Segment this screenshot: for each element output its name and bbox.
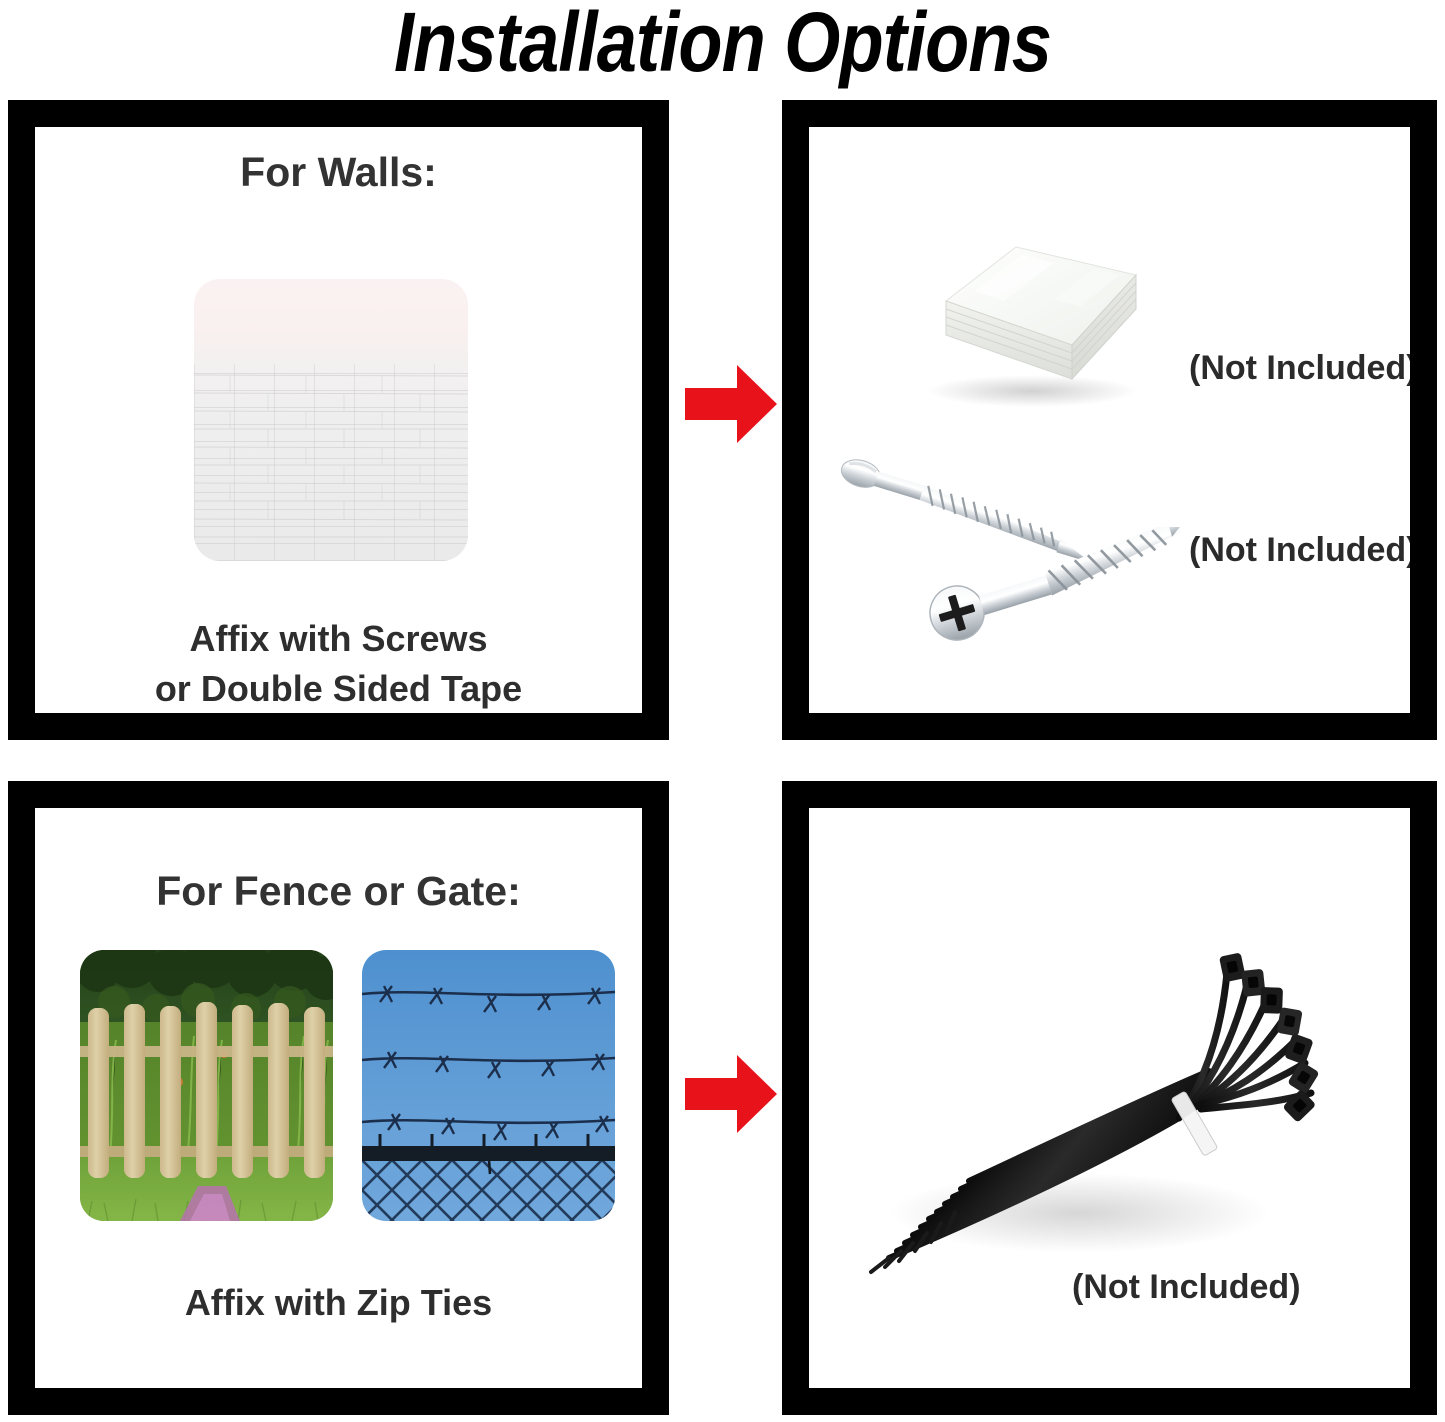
panel-wall-hardware-content: (Not Included) (809, 127, 1410, 713)
for-walls-caption-line-1: Affix with Screws (35, 614, 642, 664)
wooden-picket-fence-image (80, 950, 333, 1221)
arrow-right-icon-bottom (685, 1053, 777, 1135)
for-walls-caption-line-2: or Double Sided Tape (35, 664, 642, 713)
black-zip-ties-bundle-image (849, 913, 1329, 1313)
panel-for-walls: For Walls: (8, 100, 669, 740)
panel-fence-hardware-content: (Not Included) (809, 808, 1410, 1388)
panel-for-walls-content: For Walls: (35, 127, 642, 713)
for-walls-heading: For Walls: (35, 149, 642, 196)
panel-wall-hardware: (Not Included) (782, 100, 1437, 740)
screws-not-included-label: (Not Included) (1189, 531, 1410, 570)
arrow-right-icon-top (685, 363, 777, 445)
white-brick-wall-image (194, 279, 468, 561)
infographic-root: Installation Options For Walls: (0, 0, 1445, 1422)
chain-link-barbed-wire-fence-image (362, 950, 615, 1221)
page-title: Installation Options (101, 0, 1344, 91)
panel-fence-hardware: (Not Included) (782, 781, 1437, 1415)
ziptie-not-included-label: (Not Included) (1072, 1268, 1301, 1307)
panel-for-fence-or-gate: For Fence or Gate: (8, 781, 669, 1415)
panel-for-fence-or-gate-content: For Fence or Gate: (35, 808, 642, 1388)
tape-not-included-label: (Not Included) (1189, 349, 1410, 388)
for-fence-or-gate-caption: Affix with Zip Ties (35, 1278, 642, 1328)
for-fence-or-gate-heading: For Fence or Gate: (35, 868, 642, 915)
wood-screw-image-2 (909, 527, 1219, 657)
double-sided-tape-stack-image (904, 239, 1159, 414)
